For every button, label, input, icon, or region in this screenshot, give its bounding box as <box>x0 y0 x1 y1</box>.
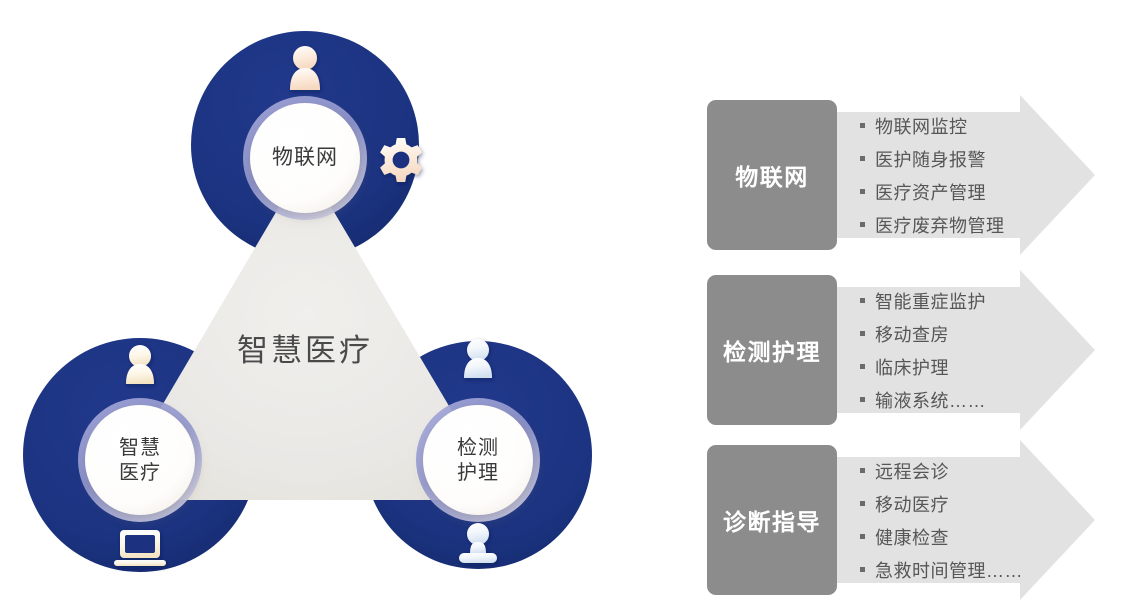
arrow-item-text: 医疗废弃物管理 <box>875 212 1005 238</box>
arrow-item: 物联网监控 <box>860 113 1005 139</box>
arrow-title-2: 检测护理 <box>723 333 821 367</box>
bullet-icon <box>860 397 865 402</box>
bullet-icon <box>860 501 865 506</box>
bullet-icon <box>860 222 865 227</box>
arrow-title-1: 物联网 <box>735 158 809 192</box>
arrow-block-3: 诊断指导 远程会诊 移动医疗 健康检查 急救时间管理…… <box>700 435 1131 605</box>
arrow-item: 移动医疗 <box>860 491 1023 517</box>
arrow-title-box-1[interactable]: 物联网 <box>707 100 837 250</box>
arrow-item: 健康检查 <box>860 524 1023 550</box>
bullet-icon <box>860 156 865 161</box>
disc-iot <box>250 103 360 213</box>
bullet-icon <box>860 567 865 572</box>
arrow-item-text: 医疗资产管理 <box>875 179 986 205</box>
arrow-item-list-2: 智能重症监护 移动查房 临床护理 输液系统…… <box>860 265 986 435</box>
arrow-item-text: 急救时间管理…… <box>875 557 1023 583</box>
arrow-item-text: 输液系统…… <box>875 387 986 413</box>
arrow-item-text: 移动查房 <box>875 321 949 347</box>
arrow-item-text: 物联网监控 <box>875 113 968 139</box>
bullet-icon <box>860 331 865 336</box>
triad-diagram-graphics <box>0 0 640 616</box>
triad-diagram: 物联网 智慧 医疗 检测 护理 智慧医疗 <box>0 0 640 616</box>
laptop-icon <box>114 530 166 566</box>
arrow-item-list-3: 远程会诊 移动医疗 健康检查 急救时间管理…… <box>860 435 1023 605</box>
arrow-title-box-2[interactable]: 检测护理 <box>707 275 837 425</box>
disc-smart-medical <box>85 405 195 515</box>
bullet-icon <box>860 364 865 369</box>
arrow-block-1: 物联网 物联网监控 医护随身报警 医疗资产管理 医疗废弃物管理 <box>700 90 1131 260</box>
arrow-item-text: 移动医疗 <box>875 491 949 517</box>
arrow-block-2: 检测护理 智能重症监护 移动查房 临床护理 输液系统…… <box>700 265 1131 435</box>
arrow-item: 远程会诊 <box>860 458 1023 484</box>
arrow-panel: 物联网 物联网监控 医护随身报警 医疗资产管理 医疗废弃物管理 <box>700 0 1131 616</box>
arrow-item-text: 临床护理 <box>875 354 949 380</box>
arrow-item: 智能重症监护 <box>860 288 986 314</box>
bullet-icon <box>860 298 865 303</box>
arrow-item: 急救时间管理…… <box>860 557 1023 583</box>
arrow-item-text: 医护随身报警 <box>875 146 986 172</box>
center-title: 智慧医疗 <box>180 325 430 370</box>
arrow-item-text: 远程会诊 <box>875 458 949 484</box>
bullet-icon <box>860 468 865 473</box>
bullet-icon <box>860 189 865 194</box>
arrow-item: 医疗资产管理 <box>860 179 1005 205</box>
arrow-title-box-3[interactable]: 诊断指导 <box>707 445 837 595</box>
arrow-item-text: 智能重症监护 <box>875 288 986 314</box>
arrow-item-list-1: 物联网监控 医护随身报警 医疗资产管理 医疗废弃物管理 <box>860 90 1005 260</box>
arrow-item: 移动查房 <box>860 321 986 347</box>
arrow-item: 医疗废弃物管理 <box>860 212 1005 238</box>
arrow-item: 输液系统…… <box>860 387 986 413</box>
disc-monitoring-nursing <box>423 405 533 515</box>
arrow-title-3: 诊断指导 <box>723 503 821 537</box>
arrow-item: 医护随身报警 <box>860 146 1005 172</box>
arrow-item: 临床护理 <box>860 354 986 380</box>
bullet-icon <box>860 123 865 128</box>
arrow-item-text: 健康检查 <box>875 524 949 550</box>
bullet-icon <box>860 534 865 539</box>
